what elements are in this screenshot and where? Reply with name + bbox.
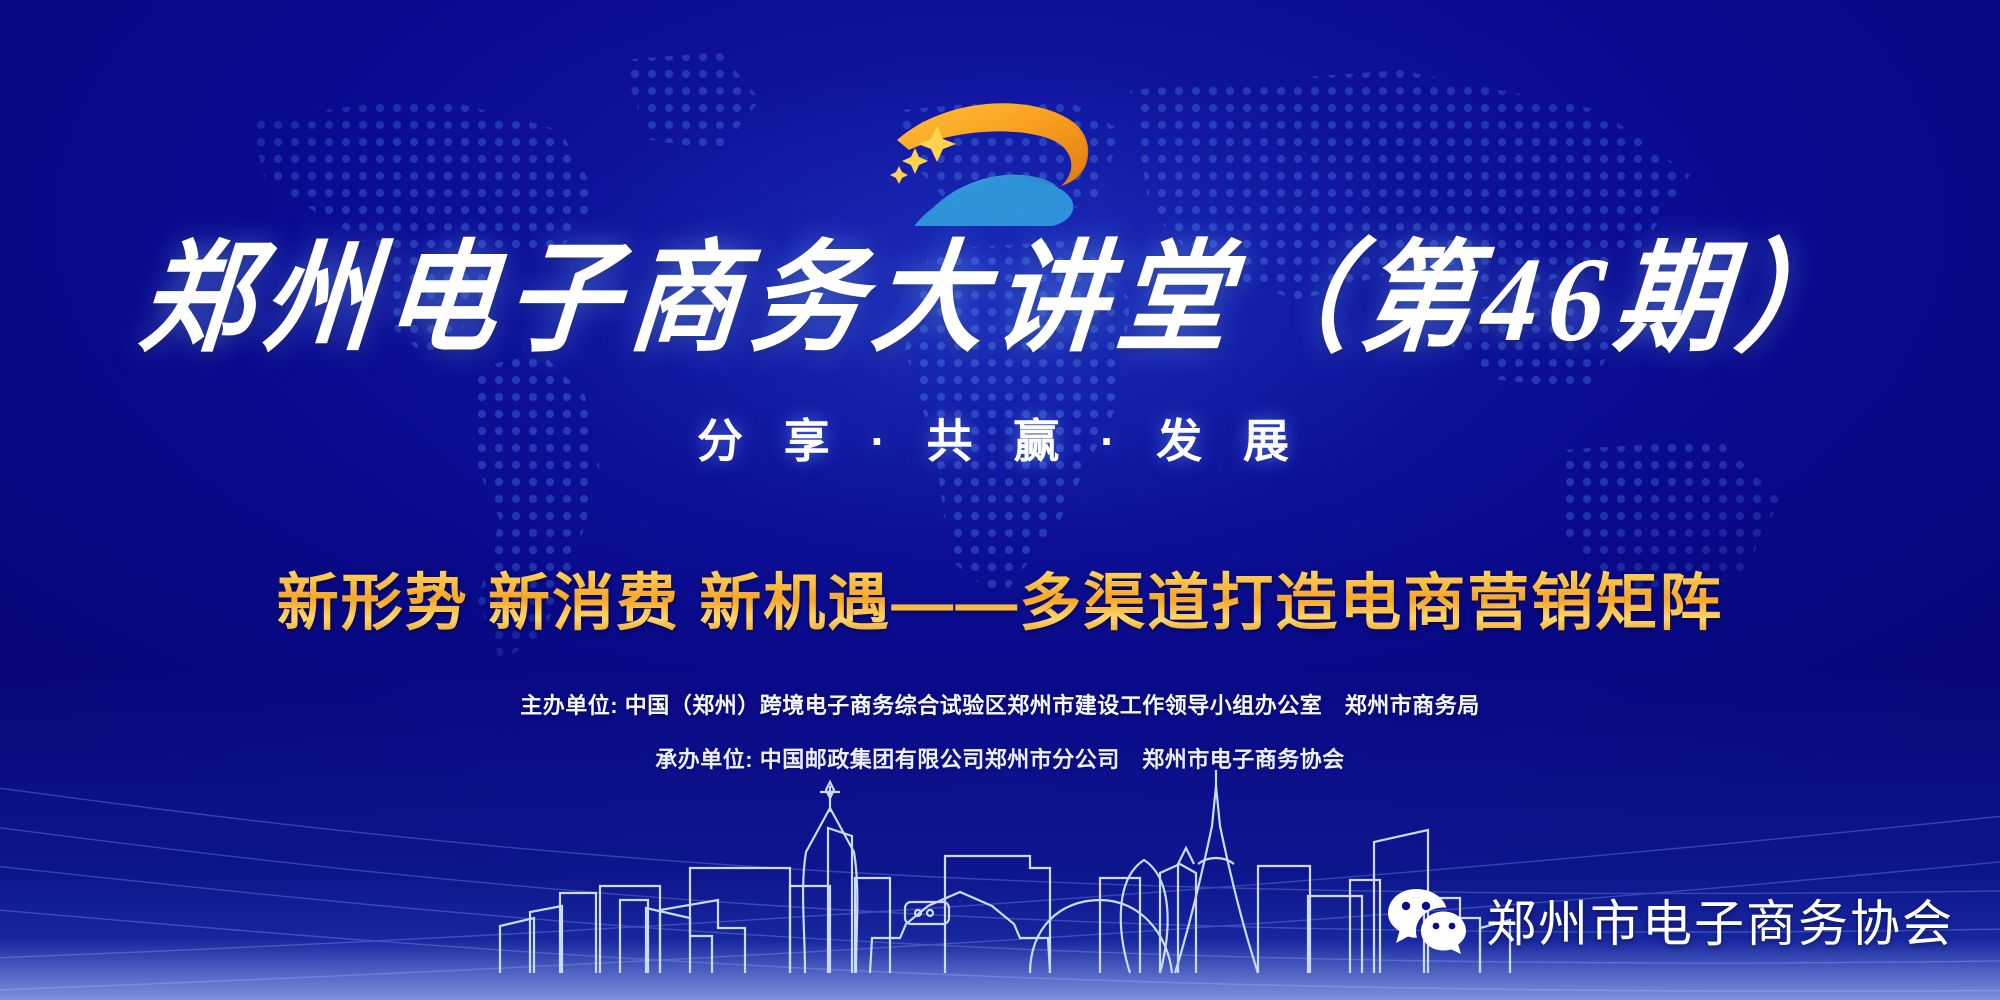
page-title: 郑州电子商务大讲堂（第46期）	[136, 240, 1865, 361]
poster-canvas: 郑州电子商务大讲堂（第46期） 分 享 · 共 赢 · 发 展 新形势 新消费 …	[0, 0, 2000, 1000]
organizer-line-coorganizer: 承办单位: 中国邮政集团有限公司郑州市分公司 郑州市电子商务协会	[0, 742, 2000, 774]
organizer-line-host: 主办单位: 中国（郑州）跨境电子商务综合试验区郑州市建设工作领导小组办公室 郑州…	[0, 688, 2000, 720]
wechat-badge[interactable]: 郑州市电子商务协会	[1386, 884, 1954, 956]
title-block: 郑州电子商务大讲堂（第46期）	[0, 244, 2000, 356]
cross-border-ecommerce-swoosh-logo	[875, 92, 1125, 227]
headline-block: 新形势 新消费 新机遇——多渠道打造电商营销矩阵	[0, 552, 2000, 642]
page-subtitle: 分 享 · 共 赢 · 发 展	[697, 405, 1303, 471]
subtitle-block: 分 享 · 共 赢 · 发 展	[0, 405, 2000, 471]
wechat-label: 郑州市电子商务协会	[1486, 884, 1954, 956]
topic-headline: 新形势 新消费 新机遇——多渠道打造电商营销矩阵	[277, 552, 1723, 642]
organizer-credits: 主办单位: 中国（郑州）跨境电子商务综合试验区郑州市建设工作领导小组办公室 郑州…	[0, 688, 2000, 796]
wechat-icon	[1386, 885, 1468, 955]
